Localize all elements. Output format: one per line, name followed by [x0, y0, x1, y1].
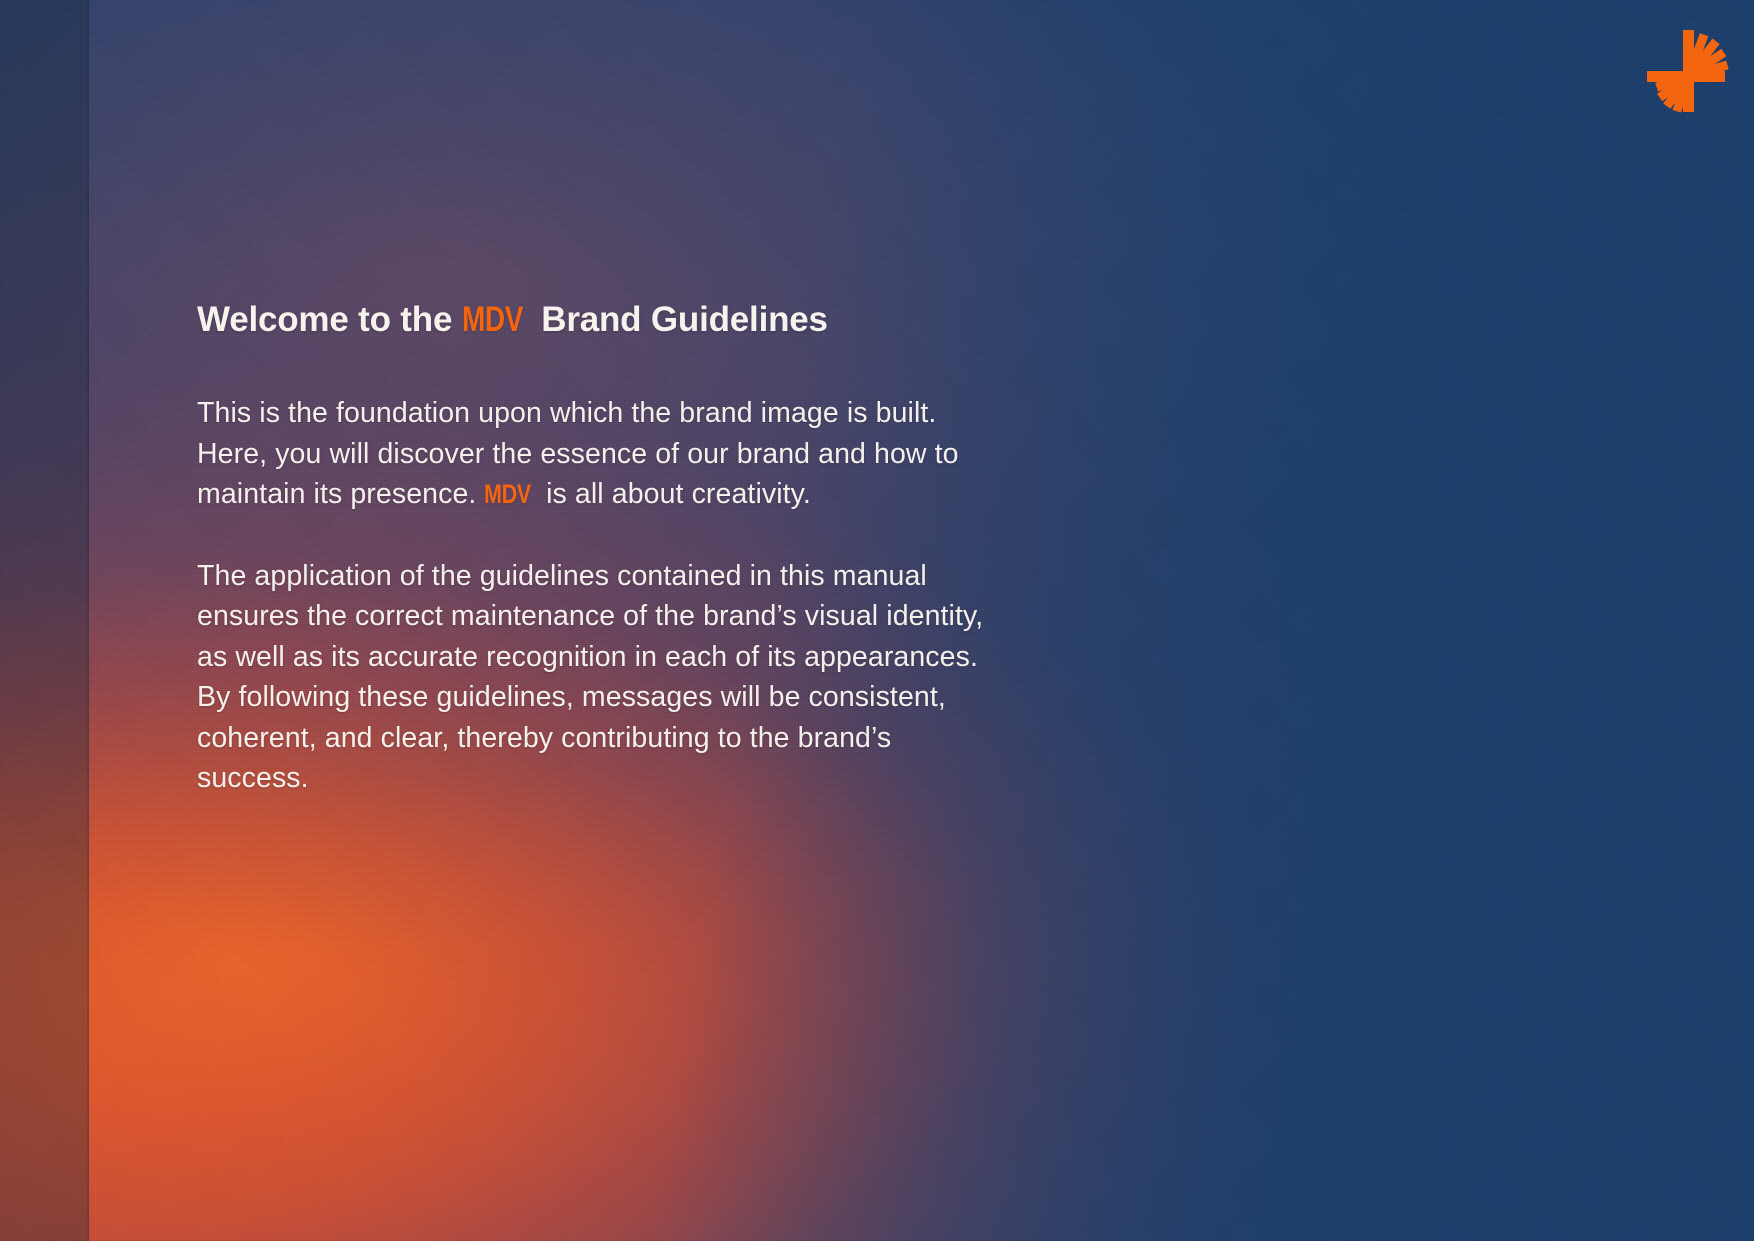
mdv-starburst-cross-logo	[1645, 28, 1737, 114]
body-paragraph-1: This is the foundation upon which the br…	[197, 393, 1327, 515]
content-block: Welcome to the MDV Brand Guidelines This…	[197, 299, 1327, 799]
slide-canvas: Welcome to the MDV Brand Guidelines This…	[0, 0, 1754, 1241]
title-body-spacer	[197, 340, 1327, 393]
page-title-part-1: Welcome to the	[197, 300, 462, 339]
page-title: Welcome to the MDV Brand Guidelines	[197, 299, 1327, 340]
paragraph-spacer	[197, 515, 1327, 556]
page-title-part-2: Brand Guidelines	[532, 300, 828, 339]
body-paragraph-1-part-2: is all about creativity.	[538, 478, 811, 510]
body-paragraph-1-brand: MDV	[484, 474, 531, 515]
page-title-brand: MDV	[462, 299, 523, 340]
body-paragraph-2: The application of the guidelines contai…	[197, 556, 1327, 799]
